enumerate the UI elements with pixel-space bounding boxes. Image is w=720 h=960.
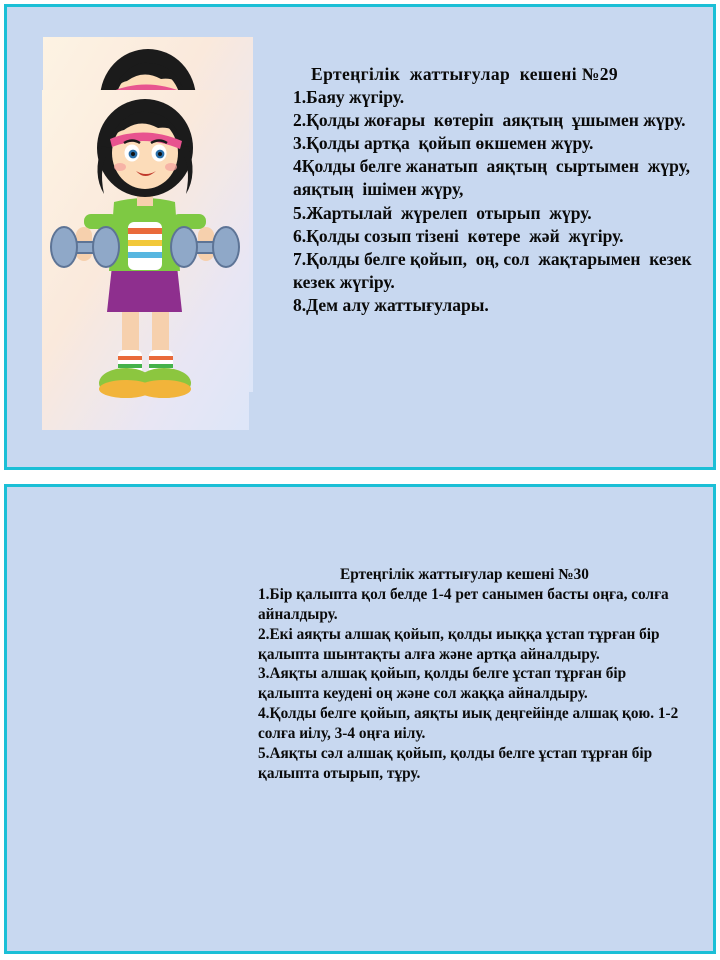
slide-2-line-5: 5.Аяқты сәл алшақ қойып, қолды белге ұст… xyxy=(258,744,688,784)
slide-2-line-2: 2.Екі аяқты алшақ қойып, қолды иыққа ұст… xyxy=(258,625,688,665)
slide-1-line-1: 1.Баяу жүгіру. xyxy=(293,86,703,109)
slide-1-line-6: 6.Қолды созып тізені көтере жәй жүгіру. xyxy=(293,225,703,248)
slide-1-line-5: 5.Жартылай жүрелеп отырып жүру. xyxy=(293,202,703,225)
slide-2-line-1: 1.Бір қалыпта қол белде 1-4 рет санымен … xyxy=(258,585,688,625)
slide-1-line-3: 3.Қолды артқа қойып өкшемен жүру. xyxy=(293,132,703,155)
slide-2-line-4: 4.Қолды белге қойып, аяқты иық деңгейінд… xyxy=(258,704,688,744)
slide-1-line-2: 2.Қолды жоғары көтеріп аяқтың ұшымен жүр… xyxy=(293,109,703,132)
slide-2-line-3: 3.Аяқты алшақ қойып, қолды белге ұстап т… xyxy=(258,664,688,704)
slide-2-title: Ертеңгілік жаттығулар кешені №30 xyxy=(258,565,688,585)
slide-1-text: Ертеңгілік жаттығулар кешені №29 1.Баяу … xyxy=(293,63,703,317)
slide-1-line-4: 4Қолды белге жанатып аяқтың сыртымен жүр… xyxy=(293,155,703,201)
girl-with-dumbbells-illustration-2 xyxy=(42,90,249,430)
slide-2-text: Ертеңгілік жаттығулар кешені №30 1.Бір қ… xyxy=(258,565,688,784)
slide-1-line-7: 7.Қолды белге қойып, оң, сол жақтарымен … xyxy=(293,248,703,294)
slide-1-title: Ертеңгілік жаттығулар кешені №29 xyxy=(293,63,703,86)
document-page: Ертеңгілік жаттығулар кешені №29 1.Баяу … xyxy=(0,0,720,960)
slide-1-line-8: 8.Дем алу жаттығулары. xyxy=(293,294,703,317)
